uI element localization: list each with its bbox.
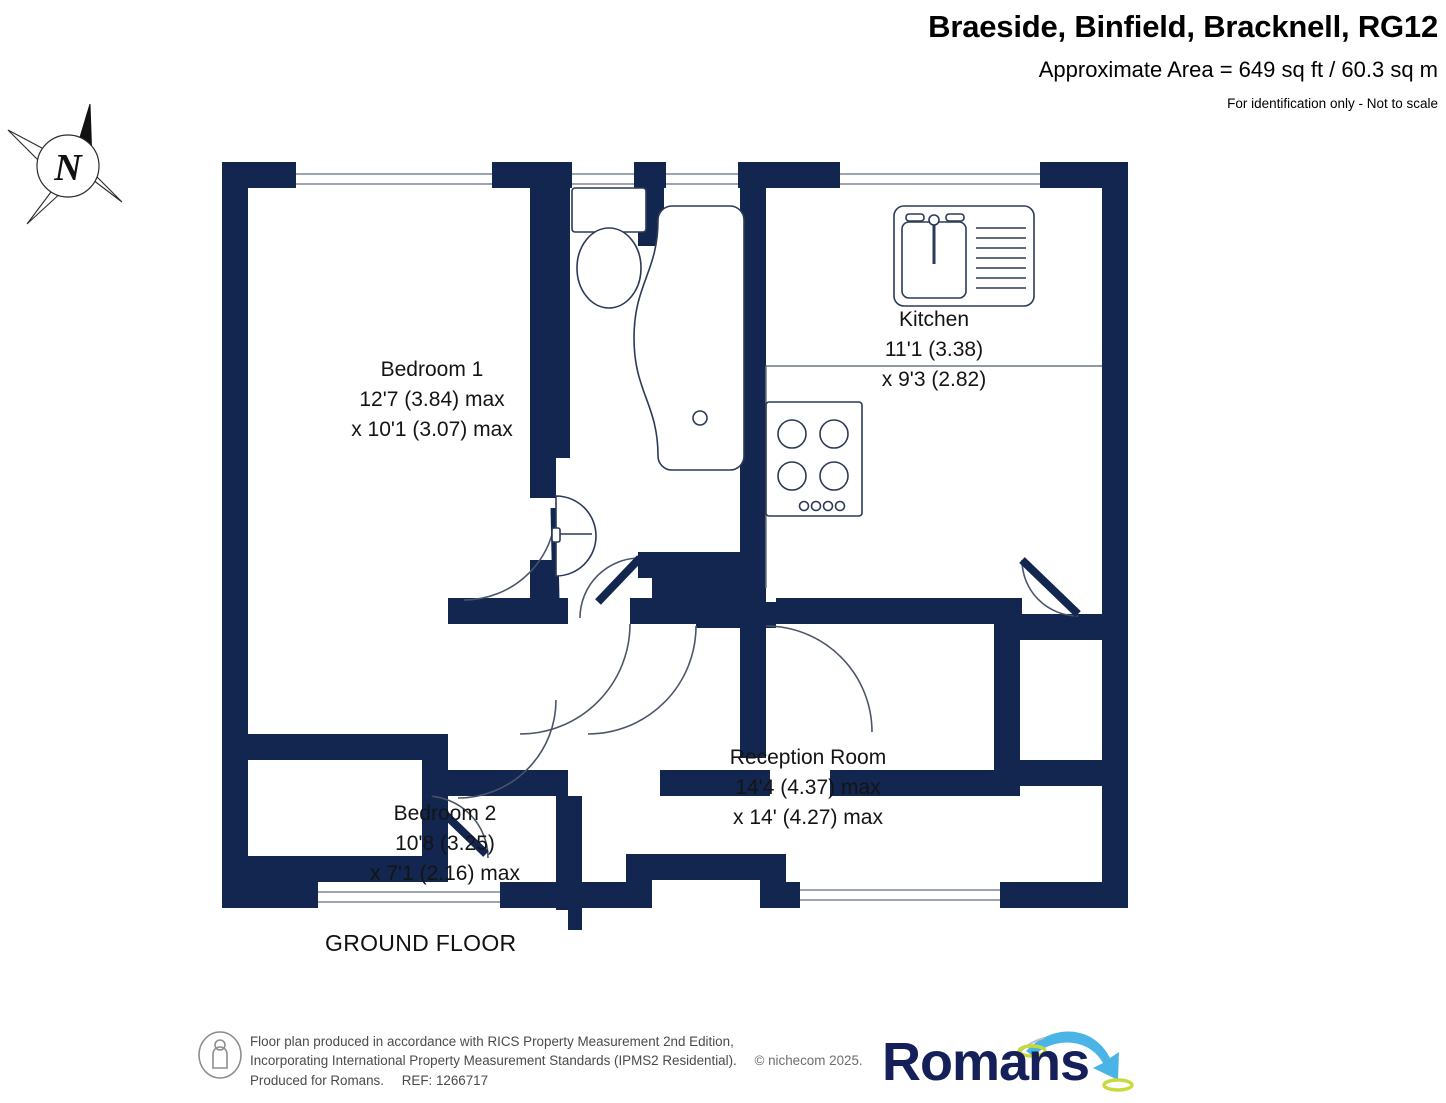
room-label-reception-room: Reception Room 14'4 (4.37) max x 14' (4.… [730,746,886,829]
wall-bathroom-west [556,188,570,458]
wash-basin-fixture [552,496,596,576]
room-label-bedroom-2: Bedroom 2 10'8 (3.25) x 7'1 (2.16) max [370,802,520,885]
reference-number: REF: 1266717 [402,1073,488,1088]
approximate-area-text: Approximate Area = 649 sq ft / 60.3 sq m [738,57,1438,83]
entry-cupboard-block [994,614,1128,786]
legal-text-block: Floor plan produced in accordance with R… [250,1032,870,1090]
toilet-fixture [572,188,646,308]
room-dimension-2: x 7'1 (2.16) max [370,862,520,885]
wall-bedroom1-east [530,188,556,498]
door-hall-reception-2 [588,626,696,734]
wall-hall-north-d [776,598,1022,624]
room-name: Reception Room [730,746,886,769]
legal-line-2: Incorporating International Property Mea… [250,1053,737,1068]
wall-bathroom-south [638,552,766,578]
legal-line-3: Produced for Romans. [250,1073,384,1088]
floor-plan-drawing: Bedroom 1 12'7 (3.84) max x 10'1 (3.07) … [200,140,1150,930]
kitchen-sink-fixture [894,206,1034,306]
door-hall-reception [520,624,630,734]
wall-hall-north-b [630,598,696,624]
compass-north-label: N [53,147,83,189]
room-dimension-1: 12'7 (3.84) max [359,388,505,411]
room-name: Bedroom 1 [381,358,484,381]
room-label-bedroom-1: Bedroom 1 12'7 (3.84) max x 10'1 (3.07) … [351,358,513,441]
room-dimension-1: 10'8 (3.25) [395,832,495,855]
identification-disclaimer: For identification only - Not to scale [738,96,1438,112]
window-bedroom2 [318,882,500,908]
room-dimension-2: x 14' (4.27) max [733,806,883,829]
room-name: Bedroom 2 [394,802,497,825]
document-footer: Floor plan produced in accordance with R… [0,1010,1446,1096]
window-reception [800,880,1000,908]
door-kitchen [766,626,872,732]
room-label-kitchen: Kitchen 11'1 (3.38) x 9'3 (2.82) [882,308,986,391]
copyright-text: © nichecom 2025. [755,1053,863,1068]
hob-fixture [766,402,862,516]
wall-hall-north-a [448,598,568,624]
romans-logo[interactable]: Romans [878,1018,1146,1098]
room-name: Kitchen [899,308,969,331]
room-dimension-1: 14'4 (4.37) max [735,776,881,799]
romans-wordmark: Romans [882,1032,1089,1092]
legal-line-1: Floor plan produced in accordance with R… [250,1032,870,1051]
wall-hall-north-c [696,602,776,628]
room-dimension-1: 11'1 (3.38) [885,338,983,361]
page-title: Braeside, Binfield, Bracknell, RG12 [738,8,1438,45]
floor-caption: GROUND FLOOR [325,930,516,957]
wall-hall-divider-a [448,770,568,796]
compass-rose: N [2,98,142,228]
ring-lower-icon [1104,1080,1132,1090]
document-header: Braeside, Binfield, Bracknell, RG12 Appr… [738,0,1438,112]
rics-person-icon [197,1030,243,1080]
room-dimension-2: x 10'1 (3.07) max [351,418,513,441]
wall-bedroom2-east-2 [568,796,582,930]
room-dimension-2: x 9'3 (2.82) [882,368,986,391]
